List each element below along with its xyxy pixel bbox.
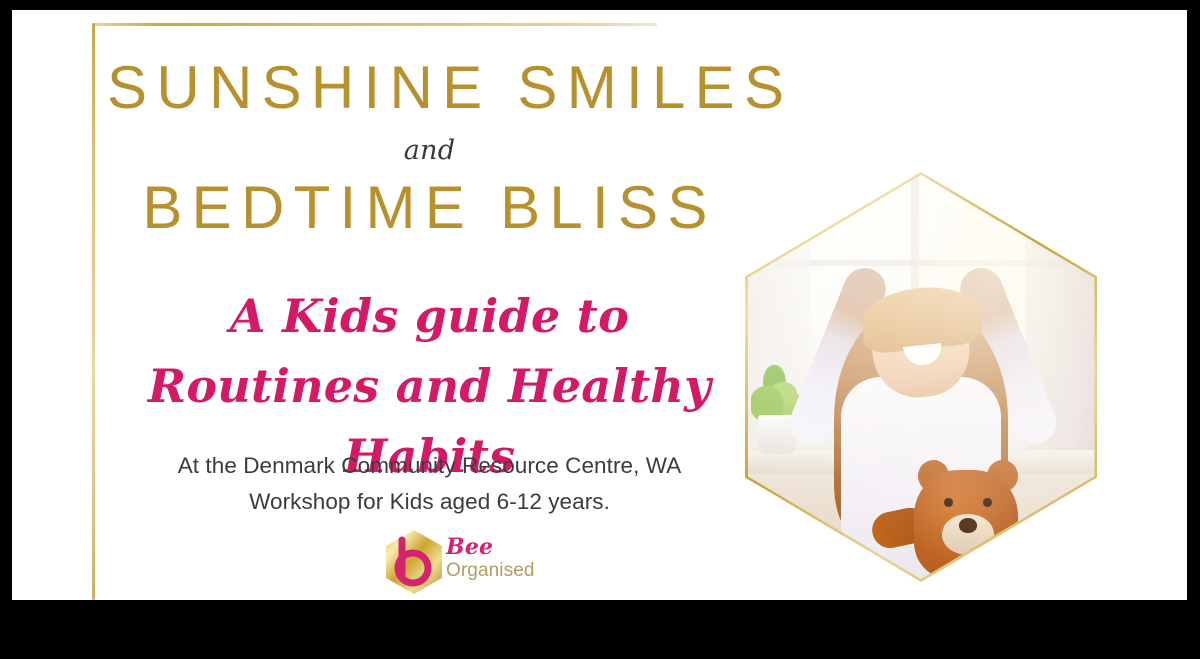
headline-connector: and xyxy=(107,135,752,166)
logo-name-line-1: Bee xyxy=(446,536,576,558)
details-block: At the Denmark Community Resource Centre… xyxy=(107,448,752,521)
hexagon-photo-frame xyxy=(745,172,1097,582)
photo-teddy-eye-left xyxy=(944,498,953,506)
hexagon-photo xyxy=(748,175,1095,579)
bee-hexagon-icon xyxy=(382,528,446,596)
gold-rule-left xyxy=(92,23,95,600)
text-column: SUNSHINE SMILES and BEDTIME BLISS A Kids… xyxy=(107,10,752,600)
poster-root: SUNSHINE SMILES and BEDTIME BLISS A Kids… xyxy=(0,0,1200,659)
photo-teddy-nose xyxy=(959,518,976,533)
headline-line-1: SUNSHINE SMILES xyxy=(107,58,752,118)
headline-line-2: BEDTIME BLISS xyxy=(107,178,752,238)
logo-wordmark: Bee Organised xyxy=(446,536,576,592)
details-line-1: At the Denmark Community Resource Centre… xyxy=(107,448,752,484)
details-line-2: Workshop for Kids aged 6-12 years. xyxy=(107,484,752,520)
logo-name-line-2: Organised xyxy=(446,561,576,581)
flyer-canvas: SUNSHINE SMILES and BEDTIME BLISS A Kids… xyxy=(12,10,1187,600)
bee-organised-logo: Bee Organised xyxy=(382,526,582,598)
photo-window-mullion-horizontal xyxy=(775,260,1066,266)
